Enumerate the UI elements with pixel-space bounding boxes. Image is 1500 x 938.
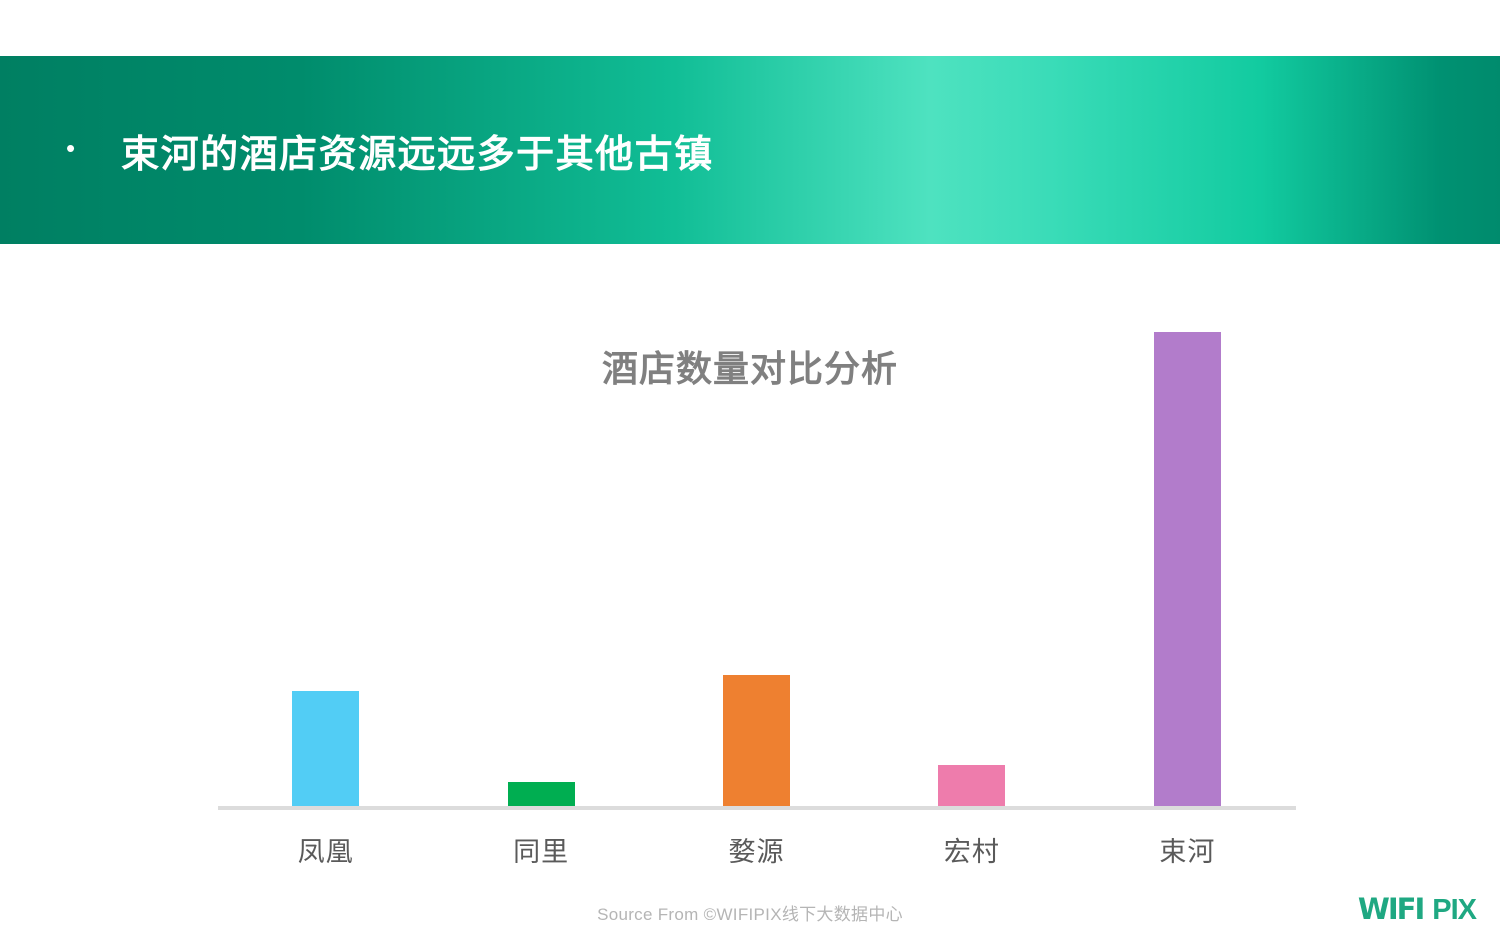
x-axis-tick-labels: 凤凰 同里 婺源 宏村 束河 (218, 830, 1295, 869)
axis-label-fenghuang: 凤凰 (218, 830, 433, 869)
brand-logo-wifi: WIFI (1358, 892, 1423, 926)
bar-slot (864, 332, 1079, 806)
page-title: 束河的酒店资源远远多于其他古镇 (121, 123, 714, 178)
bar-slot (433, 332, 648, 806)
bar-tongli[interactable] (508, 782, 575, 806)
axis-label-tongli: 同里 (433, 830, 648, 869)
brand-logo: WIFI PIX (1358, 892, 1476, 927)
bar-slot (1080, 332, 1295, 806)
bar-slot (649, 332, 864, 806)
brand-logo-pix: PIX (1432, 894, 1476, 927)
axis-label-shuhe: 束河 (1080, 830, 1295, 869)
bullet-icon: • (66, 135, 75, 161)
bar-series (218, 332, 1295, 806)
x-axis-line (218, 806, 1296, 810)
header-banner: • 束河的酒店资源远远多于其他古镇 (0, 56, 1500, 244)
axis-label-wuyuan: 婺源 (649, 830, 864, 869)
bar-hongcun[interactable] (938, 765, 1005, 806)
axis-label-hongcun: 宏村 (864, 830, 1079, 869)
bar-chart: 酒店数量对比分析 凤凰 同里 婺源 宏村 束河 (0, 244, 1500, 884)
bar-shuhe[interactable] (1154, 332, 1221, 806)
bar-slot (218, 332, 433, 806)
chart-plot-area (218, 332, 1295, 806)
header-title-row: • 束河的酒店资源远远多于其他古镇 (0, 56, 1500, 244)
bar-fenghuang[interactable] (292, 691, 359, 806)
source-attribution: Source From ©WIFIPIX线下大数据中心 (0, 900, 1500, 925)
bar-wuyuan[interactable] (723, 675, 790, 806)
